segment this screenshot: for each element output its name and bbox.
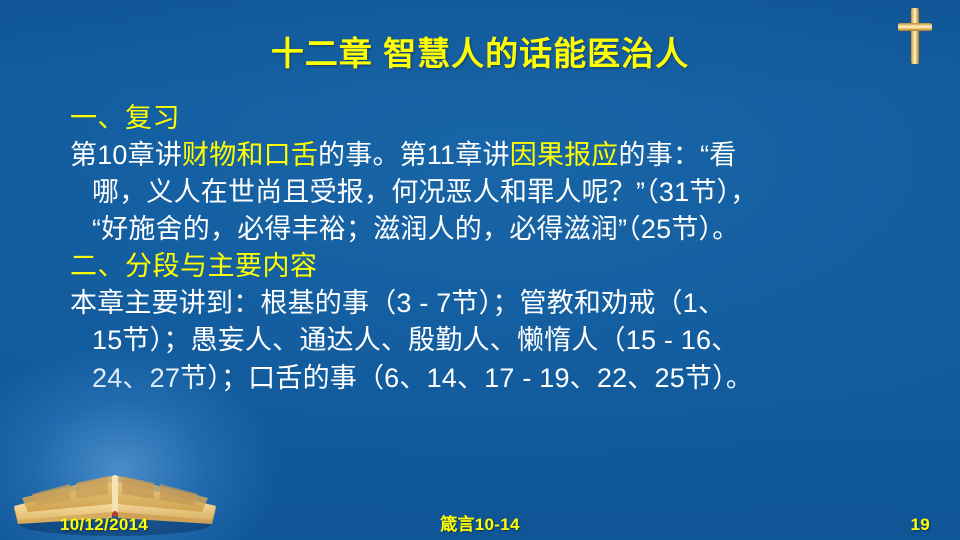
highlighted-text-run: 因果报应 (510, 140, 619, 170)
section-paragraph: 第10章讲财物和口舌的事。第11章讲因果报应的事：“看哪，义人在世尚且受报，何况… (70, 137, 910, 249)
slide-title: 十二章 智慧人的话能医治人 (0, 36, 960, 72)
paragraph-line: 24、27节）；口舌的事（6、14、17 - 19、22、25节）。 (70, 360, 910, 397)
highlighted-text-run: 财物和口舌 (182, 140, 318, 170)
text-run: 第10章讲 (70, 140, 182, 170)
text-run: 的事：“看 (619, 140, 737, 170)
text-run: “好施舍的，必得丰裕；滋润人的，必得滋润”（25节）。 (92, 214, 739, 244)
paragraph-line: 哪，义人在世尚且受报，何况恶人和罪人呢？”（31节）， (70, 174, 910, 211)
paragraph-line: “好施舍的，必得丰裕；滋润人的，必得滋润”（25节）。 (70, 211, 910, 248)
paragraph-line: 15节）；愚妄人、通达人、殷勤人、懒惰人（15 - 16、 (70, 322, 910, 359)
section-heading: 二、分段与主要内容 (70, 248, 910, 285)
cross-horizontal-bar (898, 23, 932, 31)
section-paragraph: 本章主要讲到：根基的事（3 - 7节）；管教和劝戒（1、15节）；愚妄人、通达人… (70, 285, 910, 397)
section-heading: 一、复习 (70, 100, 910, 137)
slide-body: 一、复习第10章讲财物和口舌的事。第11章讲因果报应的事：“看哪，义人在世尚且受… (70, 100, 910, 397)
text-run: 24、27节）；口舌的事（6、14、17 - 19、22、25节）。 (92, 363, 753, 393)
footer-subtitle: 箴言10-14 (0, 510, 960, 535)
paragraph-line: 第10章讲财物和口舌的事。第11章讲因果报应的事：“看 (70, 137, 910, 174)
text-run: 哪，义人在世尚且受报，何况恶人和罪人呢？”（31节）， (92, 177, 757, 207)
footer-page-number: 19 (910, 515, 930, 535)
text-run: 的事。第11章讲 (318, 140, 510, 170)
slide-canvas: 十二章 智慧人的话能医治人 一、复习第10章讲财物和口舌的事。第11章讲因果报应… (0, 0, 960, 540)
text-run: 15节）；愚妄人、通达人、殷勤人、懒惰人（15 - 16、 (92, 325, 738, 355)
text-run: 本章主要讲到：根基的事（3 - 7节）；管教和劝戒（1、 (70, 288, 725, 318)
sections-container: 一、复习第10章讲财物和口舌的事。第11章讲因果报应的事：“看哪，义人在世尚且受… (70, 100, 910, 397)
paragraph-line: 本章主要讲到：根基的事（3 - 7节）；管教和劝戒（1、 (70, 285, 910, 322)
